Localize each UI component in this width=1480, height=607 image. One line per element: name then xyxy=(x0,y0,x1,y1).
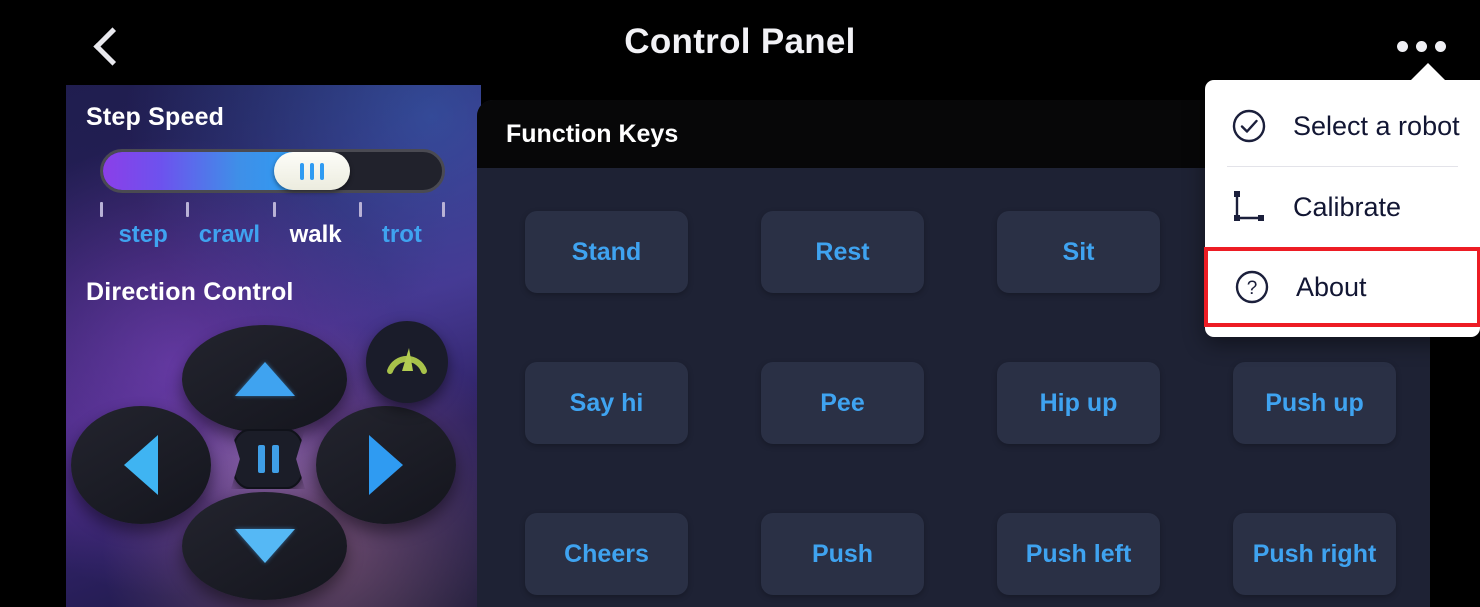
speedometer-icon xyxy=(380,335,434,389)
move-backward-button[interactable] xyxy=(182,492,347,600)
dropdown-item-list: Select a robotCalibrate?About xyxy=(1205,86,1480,327)
triangle-left-icon xyxy=(124,435,158,495)
menu-item-label: About xyxy=(1296,272,1367,303)
function-key-pee[interactable]: Pee xyxy=(761,362,924,444)
app-header: Control Panel xyxy=(0,0,1480,88)
gait-label-crawl[interactable]: crawl xyxy=(199,221,260,249)
triangle-right-icon xyxy=(369,435,403,495)
function-key-rest[interactable]: Rest xyxy=(761,211,924,293)
options-dropdown-menu: Select a robotCalibrate?About xyxy=(1205,80,1480,337)
menu-item-label: Select a robot xyxy=(1293,111,1460,142)
svg-text:?: ? xyxy=(1247,278,1258,299)
turn-right-button[interactable] xyxy=(316,406,456,524)
check-circle-icon xyxy=(1229,106,1269,146)
slider-tick xyxy=(186,202,189,217)
grip-lines-vertical-icon-bar1 xyxy=(300,163,304,180)
slider-fill xyxy=(103,152,296,190)
slider-thumb[interactable] xyxy=(274,152,350,190)
menu-item-calibrate[interactable]: Calibrate xyxy=(1205,167,1480,247)
control-panel-screen: Control Panel Step Speed stepcrawlwalktr… xyxy=(0,0,1480,607)
page-title: Control Panel xyxy=(0,22,1480,62)
direction-pad xyxy=(71,317,451,607)
calibrate-axis-icon xyxy=(1229,187,1269,227)
menu-item-about[interactable]: ?About xyxy=(1204,247,1480,327)
function-key-push[interactable]: Push xyxy=(761,513,924,595)
step-speed-heading: Step Speed xyxy=(86,103,224,132)
function-key-push-left[interactable]: Push left xyxy=(997,513,1160,595)
step-speed-slider[interactable] xyxy=(100,149,445,193)
more-horizontal-icon-dot2 xyxy=(1416,41,1427,52)
triangle-down-icon xyxy=(235,529,295,563)
more-horizontal-icon-dot3 xyxy=(1435,41,1446,52)
slider-tick-marks xyxy=(100,202,445,218)
triangle-up-icon xyxy=(235,362,295,396)
function-key-push-up[interactable]: Push up xyxy=(1233,362,1396,444)
more-options-button[interactable] xyxy=(1390,26,1452,66)
speed-gauge-button[interactable] xyxy=(366,321,448,403)
more-horizontal-icon-dot1 xyxy=(1397,41,1408,52)
gait-label-walk[interactable]: walk xyxy=(290,221,342,249)
question-circle-icon: ? xyxy=(1232,267,1272,307)
grip-lines-vertical-icon-bar3 xyxy=(320,163,324,180)
slider-track[interactable] xyxy=(100,149,445,193)
function-keys-title: Function Keys xyxy=(506,120,678,149)
menu-item-select-a-robot[interactable]: Select a robot xyxy=(1205,86,1480,166)
gait-label-trot[interactable]: trot xyxy=(382,221,422,249)
menu-item-label: Calibrate xyxy=(1293,192,1401,223)
function-key-stand[interactable]: Stand xyxy=(525,211,688,293)
function-key-hip-up[interactable]: Hip up xyxy=(997,362,1160,444)
function-key-push-right[interactable]: Push right xyxy=(1233,513,1396,595)
dropdown-arrow-icon xyxy=(1410,63,1446,81)
gait-label-row: stepcrawlwalktrot xyxy=(100,221,445,253)
slider-tick xyxy=(100,202,103,217)
function-key-sit[interactable]: Sit xyxy=(997,211,1160,293)
slider-tick xyxy=(359,202,362,217)
pause-icon-bar2 xyxy=(272,445,279,473)
move-forward-button[interactable] xyxy=(182,325,347,433)
stop-button[interactable] xyxy=(231,429,305,489)
direction-control-heading: Direction Control xyxy=(86,278,294,307)
gait-label-step[interactable]: step xyxy=(118,221,167,249)
turn-left-button[interactable] xyxy=(71,406,211,524)
function-key-say-hi[interactable]: Say hi xyxy=(525,362,688,444)
function-key-cheers[interactable]: Cheers xyxy=(525,513,688,595)
grip-lines-vertical-icon-bar2 xyxy=(310,163,314,180)
slider-tick xyxy=(273,202,276,217)
left-control-panel: Step Speed stepcrawlwalktrot Direction C… xyxy=(66,85,481,607)
slider-tick xyxy=(442,202,445,217)
pause-icon-bar1 xyxy=(258,445,265,473)
